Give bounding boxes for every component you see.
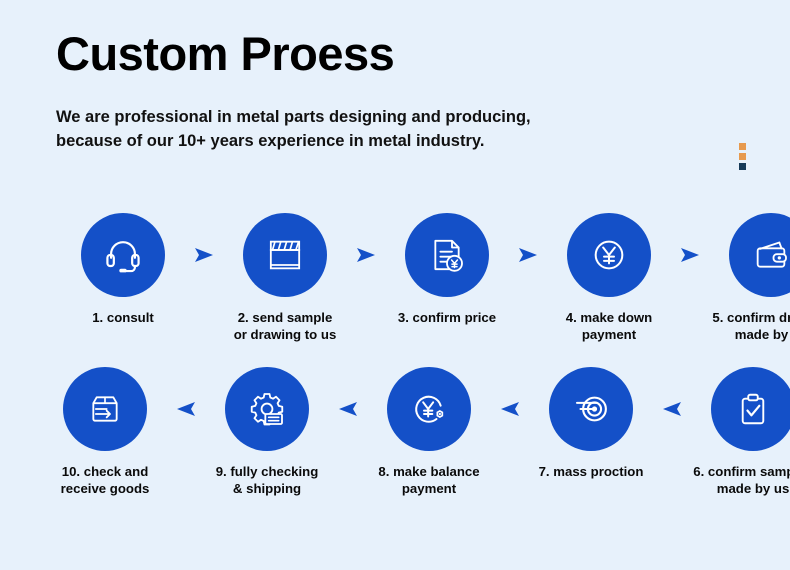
process-step-1[interactable]: 1. consult [54, 213, 192, 327]
process-step-10[interactable]: 10. check and receive goods [36, 367, 174, 497]
step-9-label: 9. fully checking & shipping [197, 464, 337, 497]
package-delivery-icon [85, 389, 125, 429]
arrow-right-icon [679, 246, 701, 264]
page-title: Custom Proess [56, 28, 746, 80]
arrow-left-1 [174, 367, 198, 451]
arrow-right-icon [355, 246, 377, 264]
step-7-label: 7. mass proction [521, 464, 661, 481]
step-5-label: 5. confirm drawing made by us [701, 310, 790, 343]
arrow-right-4 [678, 213, 702, 297]
step-6-circle [711, 367, 790, 451]
deco-square-orange-2 [739, 153, 746, 160]
step-10-circle [63, 367, 147, 451]
subtitle: We are professional in metal parts desig… [56, 106, 656, 154]
step-8-circle [387, 367, 471, 451]
process-step-2[interactable]: 2. send sample or drawing to us [216, 213, 354, 343]
process-step-5[interactable]: 5. confirm drawing made by us [702, 213, 790, 343]
arrow-left-icon [661, 400, 683, 418]
step-6-label: 6. confirm samples made by us [683, 464, 790, 497]
step-4-label: 4. make down payment [539, 310, 679, 343]
arrow-right-icon [193, 246, 215, 264]
process-step-9[interactable]: 9. fully checking & shipping [198, 367, 336, 497]
arrow-right-icon [517, 246, 539, 264]
decorative-dots [739, 143, 746, 170]
process-step-8[interactable]: 8. make balance payment [360, 367, 498, 497]
step-8-label: 8. make balance payment [359, 464, 499, 497]
arrow-left-3 [498, 367, 522, 451]
step-3-label: 3. confirm price [377, 310, 517, 327]
step-7-circle [549, 367, 633, 451]
yen-gear-icon [409, 389, 449, 429]
process-step-3[interactable]: 3. confirm price [378, 213, 516, 327]
yen-coin-icon [589, 235, 629, 275]
wallet-icon [751, 235, 790, 275]
arrow-left-icon [175, 400, 197, 418]
step-2-circle [243, 213, 327, 297]
step-10-label: 10. check and receive goods [35, 464, 175, 497]
spiral-coil-icon [570, 388, 612, 430]
invoice-yen-icon [427, 235, 467, 275]
process-row-1: 1. consult 2. send sample or drawing to … [0, 213, 790, 343]
headset-icon [101, 233, 145, 277]
clipboard-check-icon [734, 390, 772, 428]
arrow-left-icon [499, 400, 521, 418]
step-3-circle [405, 213, 489, 297]
step-9-circle [225, 367, 309, 451]
arrow-right-1 [192, 213, 216, 297]
arrow-left-4 [660, 367, 684, 451]
gear-document-icon [247, 389, 287, 429]
process-step-4[interactable]: 4. make down payment [540, 213, 678, 343]
arrow-right-2 [354, 213, 378, 297]
step-4-circle [567, 213, 651, 297]
arrow-right-3 [516, 213, 540, 297]
step-1-label: 1. consult [53, 310, 193, 327]
arrow-left-2 [336, 367, 360, 451]
subtitle-line-1: We are professional in metal parts desig… [56, 106, 656, 130]
clapperboard-drawing-icon [265, 235, 305, 275]
step-5-circle [729, 213, 790, 297]
deco-square-orange-1 [739, 143, 746, 150]
process-step-6[interactable]: 6. confirm samples made by us [684, 367, 790, 497]
step-2-label: 2. send sample or drawing to us [215, 310, 355, 343]
subtitle-line-2: because of our 10+ years experience in m… [56, 130, 656, 154]
process-step-7[interactable]: 7. mass proction [522, 367, 660, 481]
custom-process-infographic: Custom Proess We are professional in met… [0, 0, 790, 570]
arrow-left-icon [337, 400, 359, 418]
step-1-circle [81, 213, 165, 297]
process-row-2: 10. check and receive goods 9. fully che… [0, 367, 790, 497]
deco-square-navy [739, 163, 746, 170]
header: Custom Proess We are professional in met… [56, 28, 746, 154]
